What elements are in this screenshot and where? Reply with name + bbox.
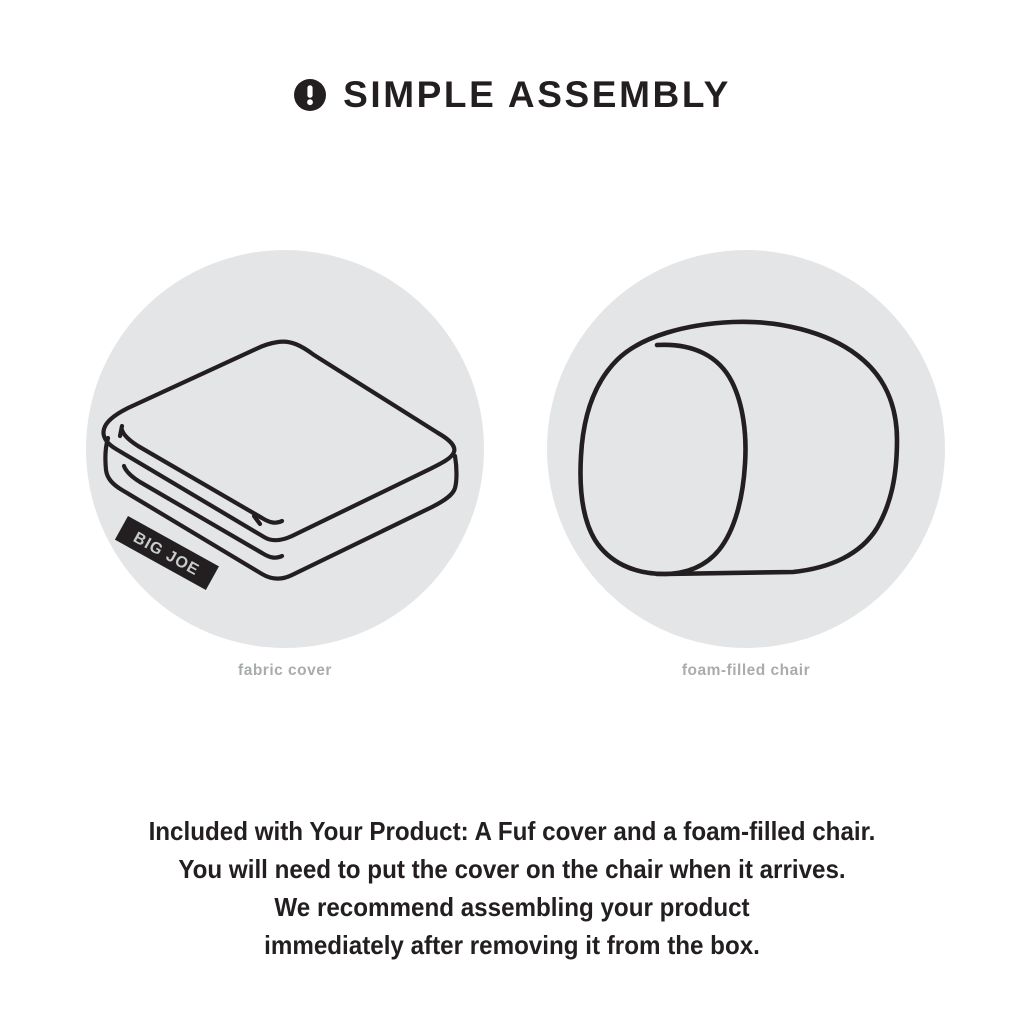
- foam-filled-chair-illustration: [547, 250, 945, 648]
- page-header: SIMPLE ASSEMBLY: [0, 68, 1024, 120]
- illustration-row: BIG JOE fabric cover foam-filled chair: [0, 250, 1024, 690]
- big-joe-tag: BIG JOE: [115, 516, 219, 590]
- body-line-3: We recommend assembling your product: [94, 888, 931, 926]
- folded-fabric-cover-illustration: BIG JOE: [86, 250, 484, 648]
- exclamation-circle-icon: [293, 78, 327, 112]
- illustration-foam-filled-chair: foam-filled chair: [547, 250, 945, 690]
- caption-foam-filled-chair: foam-filled chair: [547, 662, 945, 680]
- body-copy: Included with Your Product: A Fuf cover …: [62, 812, 962, 964]
- infographic-page: SIMPLE ASSEMBLY: [0, 0, 1024, 1024]
- page-title: SIMPLE ASSEMBLY: [343, 76, 731, 113]
- body-line-2: You will need to put the cover on the ch…: [94, 850, 931, 888]
- body-line-1: Included with Your Product: A Fuf cover …: [94, 812, 931, 850]
- body-line-4: immediately after removing it from the b…: [94, 926, 931, 964]
- caption-fabric-cover: fabric cover: [86, 662, 484, 680]
- illustration-fabric-cover: BIG JOE fabric cover: [86, 250, 484, 690]
